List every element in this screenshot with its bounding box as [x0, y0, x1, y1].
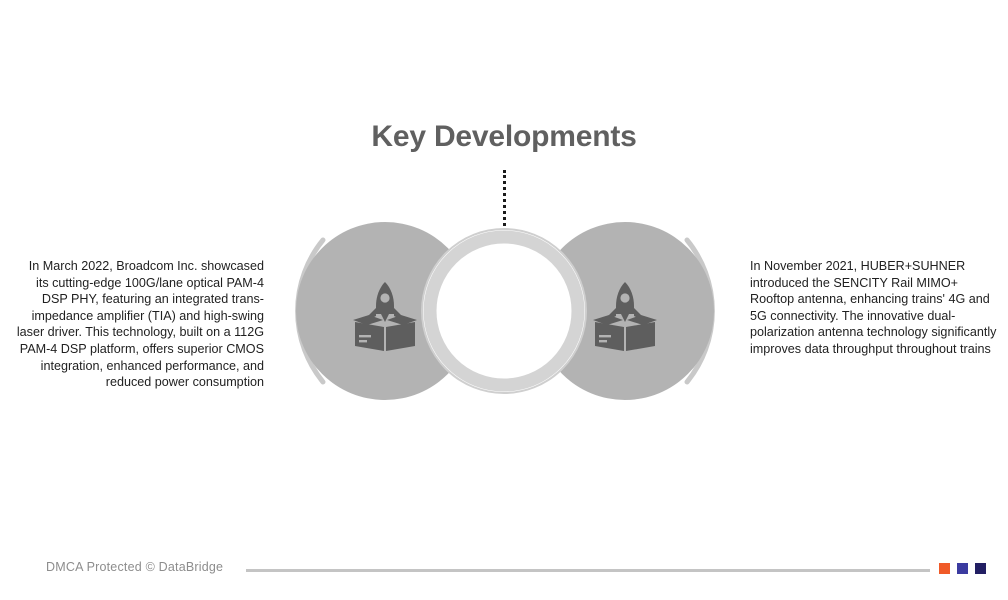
page-title: Key Developments — [0, 120, 1008, 154]
right-circle — [536, 222, 714, 400]
left-outer-arc — [298, 240, 323, 382]
rocket-in-box-icon-left — [353, 282, 417, 351]
square-blue-icon — [957, 563, 968, 574]
rocket-in-box-icon-right — [593, 282, 657, 351]
center-circle-fill — [422, 229, 586, 393]
right-outer-arc — [687, 240, 712, 382]
footer-copyright-text: DMCA Protected © DataBridge — [46, 560, 223, 574]
center-circle-outer-ring — [422, 229, 586, 393]
footer-divider — [246, 569, 930, 572]
footer-brand-squares — [939, 563, 986, 574]
left-development-text: In March 2022, Broadcom Inc. showcased i… — [14, 258, 264, 391]
square-orange-icon — [939, 563, 950, 574]
slide-canvas: Key Developments — [0, 0, 1008, 600]
dotted-connector-line — [503, 170, 506, 226]
left-circle — [296, 222, 474, 400]
square-navy-icon — [975, 563, 986, 574]
right-development-text: In November 2021, HUBER+SUHNER introduce… — [750, 258, 998, 358]
center-circle-ring — [430, 237, 578, 385]
footer: DMCA Protected © DataBridge — [0, 552, 1008, 600]
